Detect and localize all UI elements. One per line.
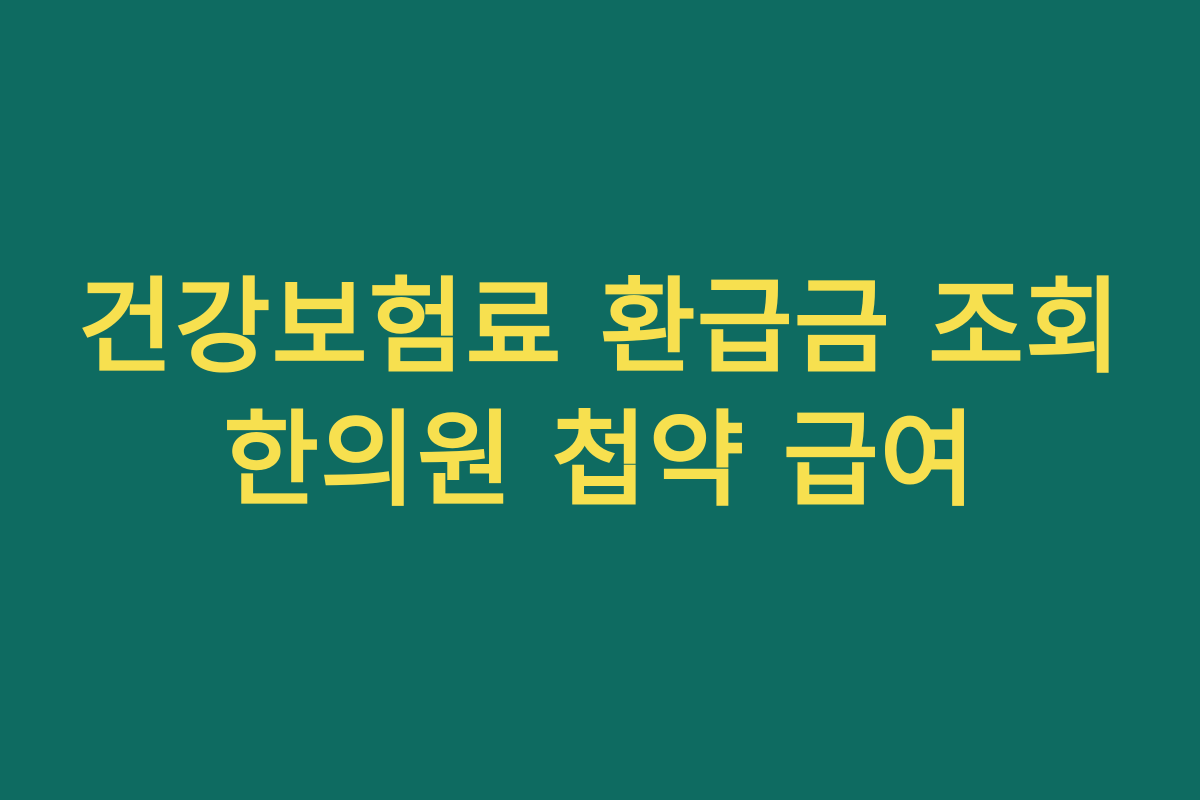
headline-line-2: 한의원 첩약 급여 [0,400,1200,521]
banner-canvas: 건강보험료 환급금 조회 한의원 첩약 급여 [0,0,1200,800]
headline-block: 건강보험료 환급금 조회 한의원 첩약 급여 [0,267,1200,520]
headline-line-1: 건강보험료 환급금 조회 [0,267,1200,388]
